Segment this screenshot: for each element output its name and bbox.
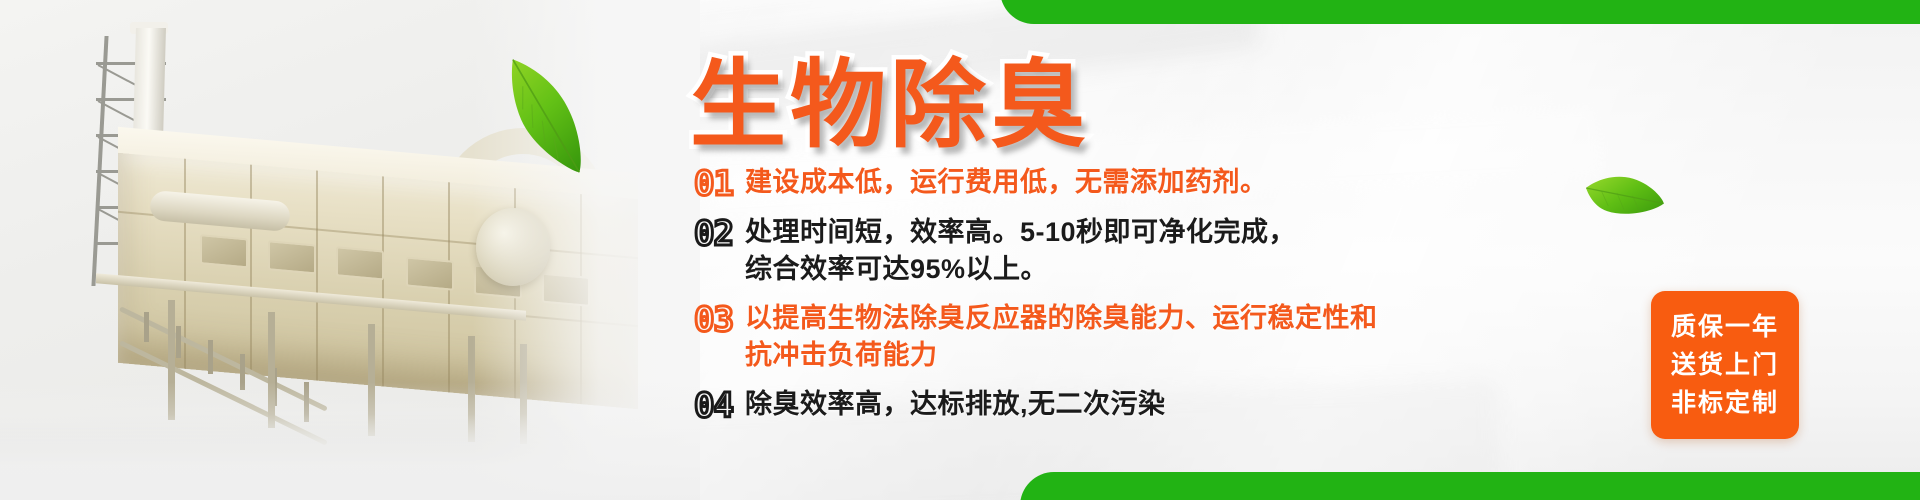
- equipment-photo: [0, 0, 700, 500]
- badge-line-2: 送货上门: [1671, 346, 1779, 384]
- feature-text: 以提高生物法除臭反应器的除臭能力、运行稳定性和 抗冲击负荷能力: [745, 300, 1378, 374]
- promo-banner: 生物除臭 01 建设成本低，运行费用低，无需添加药剂。 02 处理时间短，效率高…: [0, 0, 1920, 500]
- content-column: 生物除臭 01 建设成本低，运行费用低，无需添加药剂。 02 处理时间短，效率高…: [690, 0, 1690, 500]
- photo-bottom-fade: [0, 382, 700, 500]
- feature-item: 01 建设成本低，运行费用低，无需添加药剂。: [694, 164, 1684, 204]
- page-title: 生物除臭: [690, 58, 1090, 154]
- feature-number: 04: [694, 386, 733, 426]
- feature-list: 01 建设成本低，运行费用低，无需添加药剂。 02 处理时间短，效率高。5-10…: [694, 162, 1684, 432]
- feature-number: 03: [694, 300, 733, 340]
- feature-number: 01: [694, 164, 733, 204]
- feature-item: 03 以提高生物法除臭反应器的除臭能力、运行稳定性和 抗冲击负荷能力: [694, 300, 1684, 374]
- feature-item: 02 处理时间短，效率高。5-10秒即可净化完成， 综合效率可达95%以上。: [694, 214, 1684, 288]
- feature-text: 处理时间短，效率高。5-10秒即可净化完成， 综合效率可达95%以上。: [745, 214, 1296, 288]
- feature-text: 除臭效率高，达标排放,无二次污染: [745, 386, 1166, 423]
- feature-text: 建设成本低，运行费用低，无需添加药剂。: [745, 164, 1268, 201]
- guarantee-badge: 质保一年 送货上门 非标定制: [1651, 291, 1799, 439]
- badge-line-1: 质保一年: [1671, 308, 1779, 346]
- badge-line-3: 非标定制: [1671, 384, 1779, 422]
- feature-number: 02: [694, 214, 733, 254]
- feature-item: 04 除臭效率高，达标排放,无二次污染: [694, 386, 1684, 426]
